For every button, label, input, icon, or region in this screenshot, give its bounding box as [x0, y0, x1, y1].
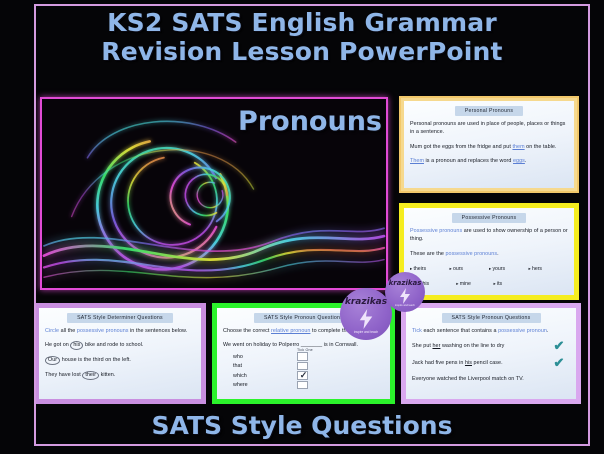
choice-label-which: which: [223, 373, 297, 379]
choice-checkbox-that[interactable]: [297, 362, 308, 371]
pronoun-right-instruction-b: .: [547, 328, 549, 334]
product-thumbnail: KS2 SATS English Grammar Revision Lesson…: [0, 0, 604, 454]
choice-row-which[interactable]: which ✓: [223, 371, 384, 381]
possessive-line1-highlight: Possessive pronouns: [410, 228, 462, 234]
page-title: KS2 SATS English Grammar Revision Lesson…: [0, 8, 604, 66]
pronoun-right-instruction: Tick each sentence that contains a posse…: [412, 327, 570, 335]
watermark-name: krazikas: [385, 279, 425, 287]
card-title-possessive: Possessive Pronouns: [452, 213, 527, 223]
determiner-question-3: They have lost their kitten.: [45, 371, 195, 380]
watermark-badge-primary: krazikas inspire and teach: [340, 288, 392, 340]
determiner-q3-a: They have lost: [45, 372, 82, 378]
slide-card-possessive-pronouns: Possessive Pronouns Possessive pronouns …: [399, 203, 579, 300]
slide-card-personal-pronouns: Personal Pronouns Personal pronouns are …: [399, 96, 579, 193]
possessive-pronoun-item: theirs: [410, 265, 450, 273]
determiner-q1-b: bike and rode to school.: [83, 342, 143, 348]
title-line-1: KS2 SATS English Grammar: [0, 8, 604, 37]
checkmark-icon: ✔: [548, 341, 570, 351]
personal-line-1: Personal pronouns are used in place of p…: [410, 120, 568, 137]
checkmark-icon: ✔: [548, 358, 570, 368]
pronoun-right-sentence-2[interactable]: Jack had five pens in his pencil case. ✔: [412, 358, 570, 368]
card-title-determiner: SATS Style Determiner Questions: [67, 313, 173, 323]
card-body-personal: Personal pronouns are used in place of p…: [410, 120, 568, 166]
hero-slide-image: Pronouns: [40, 97, 388, 290]
personal-line-3: Them is a pronoun and replaces the word …: [410, 157, 568, 165]
hero-label: Pronouns: [238, 107, 382, 137]
possessive-pronoun-item: mine: [456, 280, 493, 288]
pronoun-right-sentence-3[interactable]: Everyone watched the Liverpool match on …: [412, 375, 570, 383]
possessive-line2-highlight: possessive pronouns: [445, 251, 497, 257]
personal-line3-highlight-2: eggs: [513, 158, 525, 164]
determiner-question-2: Our house is the third on the left.: [45, 356, 195, 365]
possessive-pronoun-item: hers: [529, 265, 569, 273]
choice-label-that: that: [223, 363, 297, 369]
determiner-instruction: Circle all the possessive pronouns in th…: [45, 327, 195, 335]
determiner-instruction-b: in the sentences below.: [129, 328, 188, 334]
tick-one-header: Tick One: [297, 348, 313, 352]
personal-line2-highlight: them: [512, 144, 524, 150]
card-body-determiner: Circle all the possessive pronouns in th…: [45, 327, 195, 380]
sentence-3-text: Everyone watched the Liverpool match on …: [412, 375, 548, 383]
determiner-instruction-a: all the: [59, 328, 77, 334]
possessive-line2-a: These are the: [410, 251, 445, 257]
pronoun-right-instruction-a: each sentence that contains a: [422, 328, 498, 334]
card-title-personal: Personal Pronouns: [455, 106, 523, 116]
possessive-pronoun-item: ours: [450, 265, 490, 273]
possessive-line-2: These are the possessive pronouns.: [410, 250, 568, 258]
possessive-line-1: Possessive pronouns are used to show own…: [410, 227, 568, 244]
choice-checkbox-who[interactable]: [297, 352, 308, 361]
possessive-pronoun-list-row-1: theirs ours yours hers: [410, 265, 568, 273]
choice-row-where[interactable]: where: [223, 380, 384, 390]
sentence-2-text: Jack had five pens in his pencil case.: [412, 359, 548, 367]
watermark-subtitle: inspire and teach: [340, 330, 392, 334]
sentence-2-b: pencil case.: [472, 360, 503, 366]
lightning-bolt-icon: [359, 309, 374, 329]
footer-text: SATS Style Questions: [152, 411, 453, 440]
footer-title: SATS Style Questions: [0, 412, 604, 440]
card-title-pronoun-mid: SATS Style Pronoun Questions: [254, 313, 353, 323]
pronoun-mid-choice-list: Tick One who that which ✓ where: [223, 352, 384, 390]
personal-line3-highlight-1: Them: [410, 158, 424, 164]
personal-line3-b: .: [525, 158, 527, 164]
personal-line2-b: on the table.: [525, 144, 557, 150]
lightning-bolt-icon: [399, 288, 411, 304]
sentence-2-a: Jack had five pens in: [412, 360, 465, 366]
possessive-line2-b: .: [497, 251, 499, 257]
personal-line2-a: Mum got the eggs from the fridge and put: [410, 144, 512, 150]
pronoun-right-sentence-1[interactable]: She put her washing on the line to dry ✔: [412, 341, 570, 351]
determiner-q2-circled-word: Our: [45, 356, 60, 365]
personal-line-2: Mum got the eggs from the fridge and put…: [410, 143, 568, 151]
choice-label-where: where: [223, 382, 297, 388]
determiner-question-1: He got on his bike and rode to school.: [45, 341, 195, 350]
card-body-pronoun-right: Tick each sentence that contains a posse…: [412, 327, 570, 384]
sentence-1-a: She put: [412, 343, 432, 349]
slide-card-determiner-questions: SATS Style Determiner Questions Circle a…: [34, 303, 206, 404]
determiner-q2-b: house is the third on the left.: [60, 357, 131, 363]
determiner-instruction-highlight: Circle: [45, 328, 59, 334]
card-body-possessive: Possessive pronouns are used to show own…: [410, 227, 568, 258]
personal-line3-a: is a pronoun and replaces the word: [424, 158, 513, 164]
sentence-1-text: She put her washing on the line to dry: [412, 342, 548, 350]
determiner-q1-circled-word: his: [70, 341, 83, 350]
determiner-q1-a: He got on: [45, 342, 70, 348]
frame-left-bar: [34, 4, 36, 446]
determiner-q3-circled-word: their: [82, 371, 99, 380]
sentence-1-b: washing on the line to dry: [440, 343, 504, 349]
choice-row-who[interactable]: who: [223, 352, 384, 362]
watermark-name: krazikas: [340, 297, 392, 307]
pronoun-right-instruction-highlight: Tick: [412, 328, 422, 334]
pronoun-right-instruction-highlight-2: possessive pronoun: [498, 328, 547, 334]
determiner-q3-b: kitten.: [99, 372, 115, 378]
card-title-pronoun-right: SATS Style Pronoun Questions: [442, 313, 541, 323]
determiner-instruction-highlight-2: possessive pronouns: [77, 328, 129, 334]
choice-label-who: who: [223, 354, 297, 360]
possessive-pronoun-list-row-2: his mine its: [410, 280, 568, 288]
pronoun-mid-instruction-a: Choose the correct: [223, 328, 271, 334]
possessive-pronoun-item: yours: [489, 265, 529, 273]
pronoun-mid-instruction-highlight: relative pronoun: [271, 328, 310, 334]
slide-card-pronoun-questions-right: SATS Style Pronoun Questions Tick each s…: [401, 303, 581, 404]
possessive-pronoun-item: its: [494, 280, 531, 288]
choice-checkbox-which[interactable]: ✓: [297, 371, 308, 380]
choice-checkbox-where[interactable]: [297, 381, 308, 390]
title-line-2: Revision Lesson PowerPoint: [0, 37, 604, 66]
sentence-2-word: his: [465, 360, 472, 366]
checkmark-icon: ✓: [298, 370, 309, 381]
